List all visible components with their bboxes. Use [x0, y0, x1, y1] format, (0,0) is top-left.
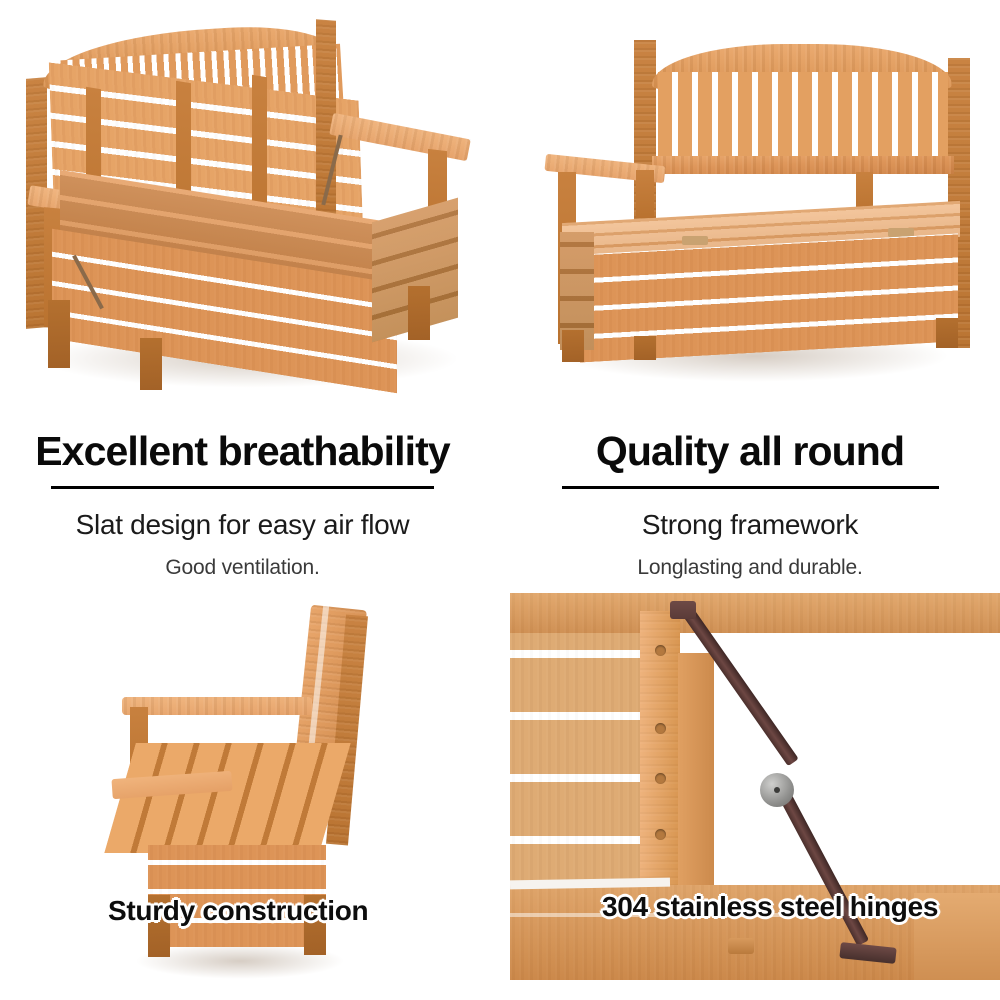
feature-title: Excellent breathability: [0, 428, 485, 474]
feature-block-quality: Quality all round Strong framework Longl…: [505, 428, 995, 580]
bench-leg-front-right: [936, 318, 958, 348]
bench-seat-slats: [104, 743, 351, 853]
bench-back-bottom-rail: [652, 156, 954, 174]
feature-subtitle: Slat design for easy air flow: [0, 509, 485, 541]
hinge-top-bracket: [670, 601, 696, 619]
feature-note: Longlasting and durable.: [505, 555, 995, 580]
feature-subtitle: Strong framework: [505, 509, 995, 541]
caption-stainless-steel-hinges: 304 stainless steel hinges: [602, 891, 938, 923]
dowel-peg-icon: [728, 938, 754, 954]
bench-leg-front-left: [562, 330, 584, 362]
panel-bench-open-lid: [0, 0, 500, 400]
feature-divider-rule: [51, 486, 434, 489]
caption-sturdy-construction: Sturdy construction: [108, 895, 368, 927]
feature-note: Good ventilation.: [0, 555, 485, 580]
lid-hinge-left-icon: [682, 236, 708, 245]
bench-leg-front-left: [48, 300, 70, 368]
hinge-mount-post-face: [640, 611, 680, 896]
bench-leg-front-right: [408, 286, 430, 340]
bench-back-slats: [658, 72, 948, 164]
product-infographic: Excellent breathability Slat design for …: [0, 0, 1000, 1000]
feature-block-breathability: Excellent breathability Slat design for …: [0, 428, 485, 580]
feature-title: Quality all round: [505, 428, 995, 474]
hinge-pivot-screw: [774, 787, 780, 793]
panel-hinge-closeup: 304 stainless steel hinges: [510, 593, 1000, 980]
bench-armrest: [122, 697, 312, 715]
hinge-bg-inner-panel-2: [678, 653, 714, 893]
bench-leg-back-left: [634, 336, 656, 360]
feature-divider-rule: [562, 486, 939, 489]
panel-bench-side-profile: Sturdy construction: [0, 595, 500, 1000]
bench-leg-back-right: [140, 338, 162, 390]
hinge-bg-top-rail: [510, 593, 1000, 633]
bench-arm-post-mid: [636, 170, 654, 218]
panel-bench-closed-front: [500, 0, 1000, 400]
